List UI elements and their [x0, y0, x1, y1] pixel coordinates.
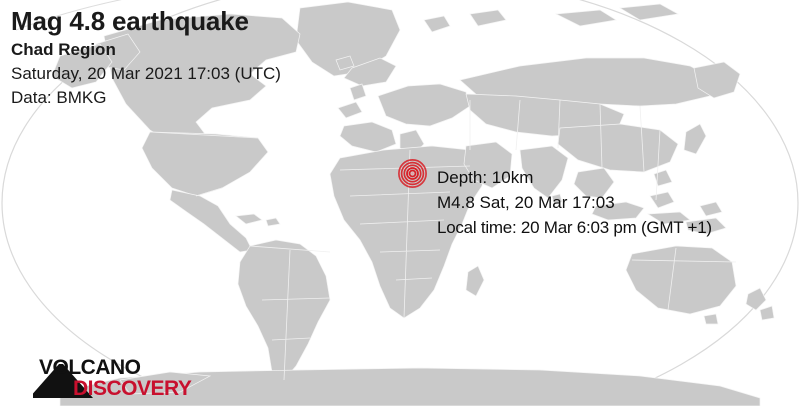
- depth-label: Depth: 10km: [437, 165, 799, 190]
- logo-word-volcano: VOLCANO: [39, 356, 141, 379]
- local-time-label: Local time: 20 Mar 6:03 pm (GMT +1): [437, 215, 799, 240]
- earthquake-header: Mag 4.8 earthquake Chad Region Saturday,…: [11, 6, 481, 110]
- earthquake-epicenter-rings-icon: [398, 159, 427, 188]
- datetime-utc-label: Saturday, 20 Mar 2021 17:03 (UTC): [11, 62, 481, 86]
- logo-word-discovery: DISCOVERY: [73, 377, 192, 398]
- earthquake-epicenter-marker[interactable]: [398, 159, 427, 188]
- volcanodiscovery-logo[interactable]: VOLCANO DISCOVERY: [33, 350, 198, 398]
- magnitude-time-label: M4.8 Sat, 20 Mar 17:03: [437, 190, 799, 215]
- logo-svg: VOLCANO DISCOVERY: [33, 350, 198, 398]
- region-label: Chad Region: [11, 38, 481, 62]
- data-source-label: Data: BMKG: [11, 86, 481, 110]
- page-title: Mag 4.8 earthquake: [11, 6, 481, 36]
- earthquake-info-panel: Depth: 10km M4.8 Sat, 20 Mar 17:03 Local…: [437, 165, 799, 240]
- earthquake-map-screenshot: Mag 4.8 earthquake Chad Region Saturday,…: [0, 0, 800, 406]
